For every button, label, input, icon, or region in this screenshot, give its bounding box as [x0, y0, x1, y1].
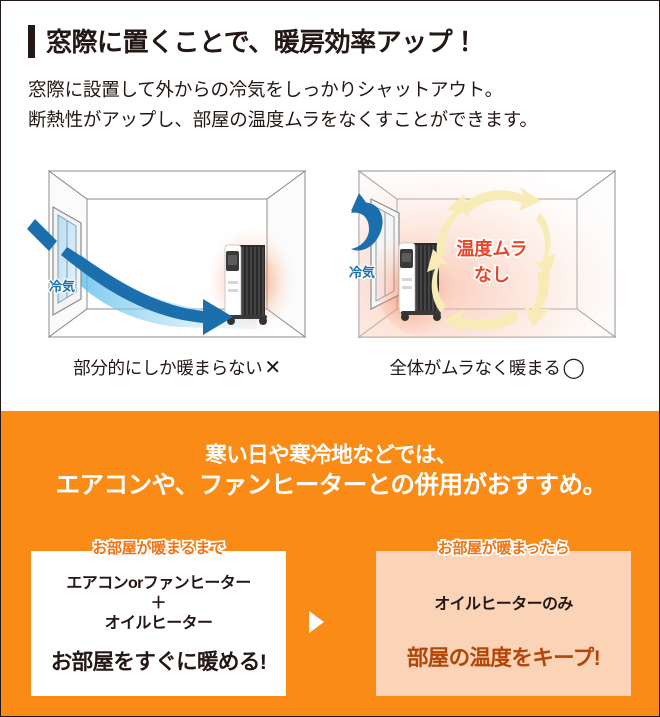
caption-without: 部分的にしか暖まらない✕	[27, 355, 327, 380]
promo-line-1: 寒い日や寒冷地などでは、	[1, 441, 660, 470]
oil-heater-left	[225, 245, 267, 325]
card-sub-oil-heater: オイルヒーター	[31, 613, 286, 634]
cold-air-label-left: 冷気	[49, 279, 75, 294]
card-badge-warmed: お部屋が暖まったら	[376, 537, 631, 558]
card-body-warmed: オイルヒーターのみ 部屋の温度をキープ!	[376, 594, 631, 672]
title-accent-bar	[28, 25, 35, 58]
header-section: 窓際に置くことで、暖房効率アップ！ 窓際に設置して外からの冷気をしっかりシャット…	[1, 1, 660, 411]
card-sub-aircon-or-fanheater: エアコンorファンヒーター	[31, 573, 286, 594]
card-sub-oil-heater-only: オイルヒーターのみ	[376, 594, 631, 615]
lede-line-1: 窓際に設置して外からの冷気をしっかりシャットアウト。	[28, 75, 638, 105]
comparison-illustrations: 冷気 部分的にしか暖まらない✕	[1, 159, 660, 389]
page-title: 窓際に置くことで、暖房効率アップ！	[28, 25, 478, 58]
room-diagram-even-heat: 冷気	[337, 159, 637, 354]
usage-cards: お部屋が暖まるまで エアコンorファンヒーター ＋ オイルヒーター お部屋をすぐ…	[1, 537, 660, 697]
promo-message: 寒い日や寒冷地などでは、 エアコンや、ファンヒーターとの併用がおすすめ。	[1, 441, 660, 502]
caption-without-text: 部分的にしか暖まらない	[73, 358, 262, 378]
lede-paragraph: 窓際に設置して外からの冷気をしっかりシャットアウト。 断熱性がアップし、部屋の温…	[28, 75, 638, 135]
room-diagram-cold-draft: 冷気	[27, 159, 327, 354]
marketing-page: 窓際に置くことで、暖房効率アップ！ 窓際に設置して外からの冷気をしっかりシャット…	[0, 0, 660, 717]
caption-with-mark: ◯	[563, 357, 585, 379]
card-badge-warming-up: お部屋が暖まるまで	[31, 537, 286, 558]
lede-line-2: 断熱性がアップし、部屋の温度ムラをなくすことができます。	[28, 105, 638, 135]
illustration-panel-without: 冷気 部分的にしか暖まらない✕	[27, 159, 327, 389]
usage-card-warmed: お部屋が暖まったら オイルヒーターのみ 部屋の温度をキープ!	[376, 551, 631, 696]
usage-card-warming-up: お部屋が暖まるまで エアコンorファンヒーター ＋ オイルヒーター お部屋をすぐ…	[31, 551, 286, 696]
even-temperature-label-line1: 温度ムラ	[456, 238, 527, 259]
even-temperature-label-line2: なし	[474, 265, 510, 285]
caption-with: 全体がムラなく暖まる◯	[337, 355, 637, 380]
page-title-text: 窓際に置くことで、暖房効率アップ！	[46, 29, 478, 55]
illustration-panel-with: 冷気	[337, 159, 637, 389]
promo-line-2: エアコンや、ファンヒーターとの併用がおすすめ。	[1, 470, 660, 503]
recommendation-section: 寒い日や寒冷地などでは、 エアコンや、ファンヒーターとの併用がおすすめ。 お部屋…	[1, 411, 660, 717]
caption-without-mark: ✕	[264, 357, 280, 379]
caption-with-text: 全体がムラなく暖まる	[389, 358, 560, 378]
card-main-warmed: 部屋の温度をキープ!	[376, 641, 631, 672]
card-main-warming-up: お部屋をすぐに暖める!	[31, 645, 286, 676]
cold-air-label-right: 冷気	[349, 265, 375, 280]
card-body-warming-up: エアコンorファンヒーター ＋ オイルヒーター お部屋をすぐに暖める!	[31, 573, 286, 676]
flow-arrow-icon	[309, 611, 324, 633]
card-plus-sign: ＋	[31, 594, 286, 613]
